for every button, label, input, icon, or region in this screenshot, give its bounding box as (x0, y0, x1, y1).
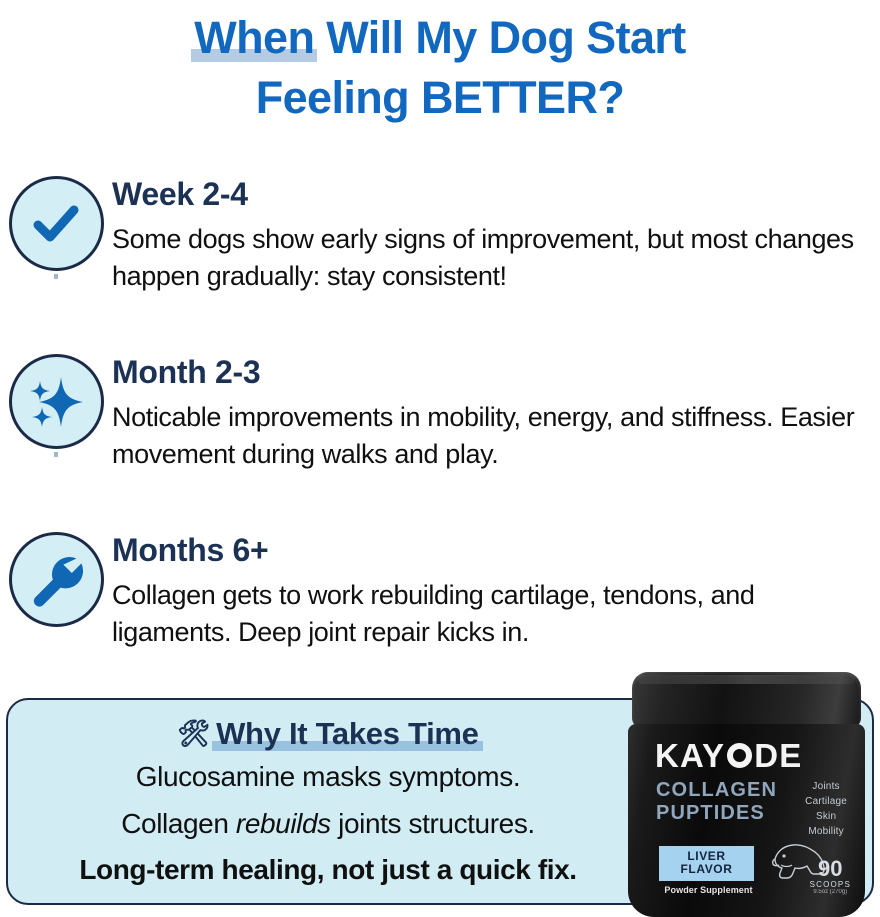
callout-line-2-emphasis: rebuilds (236, 808, 331, 839)
timeline-connector-dashed (54, 274, 58, 279)
callout-line-2-prefix: Collagen (121, 808, 236, 839)
brand-ring-o-icon (727, 743, 752, 768)
supplement-type-label: Powder Supplement (661, 885, 756, 895)
step-heading: Month 2-3 (112, 354, 866, 391)
step-body: Noticable improvements in mobility, ener… (112, 399, 866, 473)
product-name-line-2: PUPTIDES (656, 802, 777, 825)
brand-text-part1: KAY (655, 739, 725, 772)
callout-title-text: Why It Takes Time (216, 716, 479, 752)
callout-line-2: Collagen rebuilds joints structures. (8, 803, 648, 846)
flavor-badge: LIVER FLAVOR (659, 846, 754, 881)
timeline-text-column: Month 2-3 Noticable improvements in mobi… (112, 348, 880, 473)
product-jar-image: KAYDE COLLAGEN PUPTIDES Joints Cartilage… (628, 672, 865, 917)
benefit-item: Joints (805, 779, 847, 794)
callout-line-2-suffix: joints structures. (331, 808, 535, 839)
hammer-and-wrench-icon: 🛠 (177, 718, 210, 748)
step-body: Some dogs show early signs of improvemen… (112, 221, 866, 295)
scoop-count-label: SCOOPS (810, 880, 851, 889)
timeline-step-month-2-3: Month 2-3 Noticable improvements in mobi… (0, 348, 880, 526)
brand-logo: KAYDE (655, 739, 803, 772)
check-icon (9, 176, 104, 271)
sparkles-icon (9, 354, 104, 449)
benefit-item: Skin (805, 809, 847, 824)
title-line-1: When Will My Dog Start (0, 8, 880, 68)
flavor-line-1: LIVER (659, 850, 754, 863)
timeline: Week 2-4 Some dogs show early signs of i… (0, 170, 880, 704)
product-benefits-list: Joints Cartilage Skin Mobility (805, 779, 847, 839)
callout-content: 🛠Why It Takes Time Glucosamine masks sym… (8, 700, 648, 903)
wrench-icon (9, 532, 104, 627)
callout-title: 🛠Why It Takes Time (8, 716, 648, 752)
timeline-connector-dashed (54, 452, 58, 457)
timeline-step-week-2-4: Week 2-4 Some dogs show early signs of i… (0, 170, 880, 348)
scoop-count: 90 SCOOPS 9.5oz (270g) (810, 858, 851, 895)
callout-line-1: Glucosamine masks symptoms. (8, 756, 648, 799)
title-line-2: Feeling BETTER? (0, 68, 880, 128)
step-heading: Months 6+ (112, 532, 866, 569)
timeline-text-column: Week 2-4 Some dogs show early signs of i… (112, 170, 880, 295)
benefit-item: Mobility (805, 824, 847, 839)
brand-text-part2: DE (754, 739, 802, 772)
timeline-icon-column (0, 526, 112, 627)
jar-lid (632, 672, 861, 728)
timeline-icon-column (0, 348, 112, 449)
jar-label: KAYDE COLLAGEN PUPTIDES Joints Cartilage… (628, 724, 865, 917)
infographic-page: When Will My Dog Start Feeling BETTER? W… (0, 0, 880, 917)
callout-line-3: Long-term healing, not just a quick fix. (8, 849, 648, 892)
title-highlight-word: When (194, 8, 314, 68)
page-title: When Will My Dog Start Feeling BETTER? (0, 8, 880, 128)
benefit-item: Cartilage (805, 794, 847, 809)
timeline-icon-column (0, 170, 112, 271)
jar-body: KAYDE COLLAGEN PUPTIDES Joints Cartilage… (628, 724, 865, 917)
product-name: COLLAGEN PUPTIDES (656, 779, 777, 825)
step-heading: Week 2-4 (112, 176, 866, 213)
step-body: Collagen gets to work rebuilding cartila… (112, 577, 866, 651)
net-weight: 9.5oz (270g) (810, 889, 851, 895)
product-name-line-1: COLLAGEN (656, 779, 777, 802)
timeline-text-column: Months 6+ Collagen gets to work rebuildi… (112, 526, 880, 651)
title-line-1-rest: Will My Dog Start (314, 12, 685, 63)
scoop-count-number: 90 (810, 858, 851, 880)
flavor-line-2: FLAVOR (659, 863, 754, 876)
